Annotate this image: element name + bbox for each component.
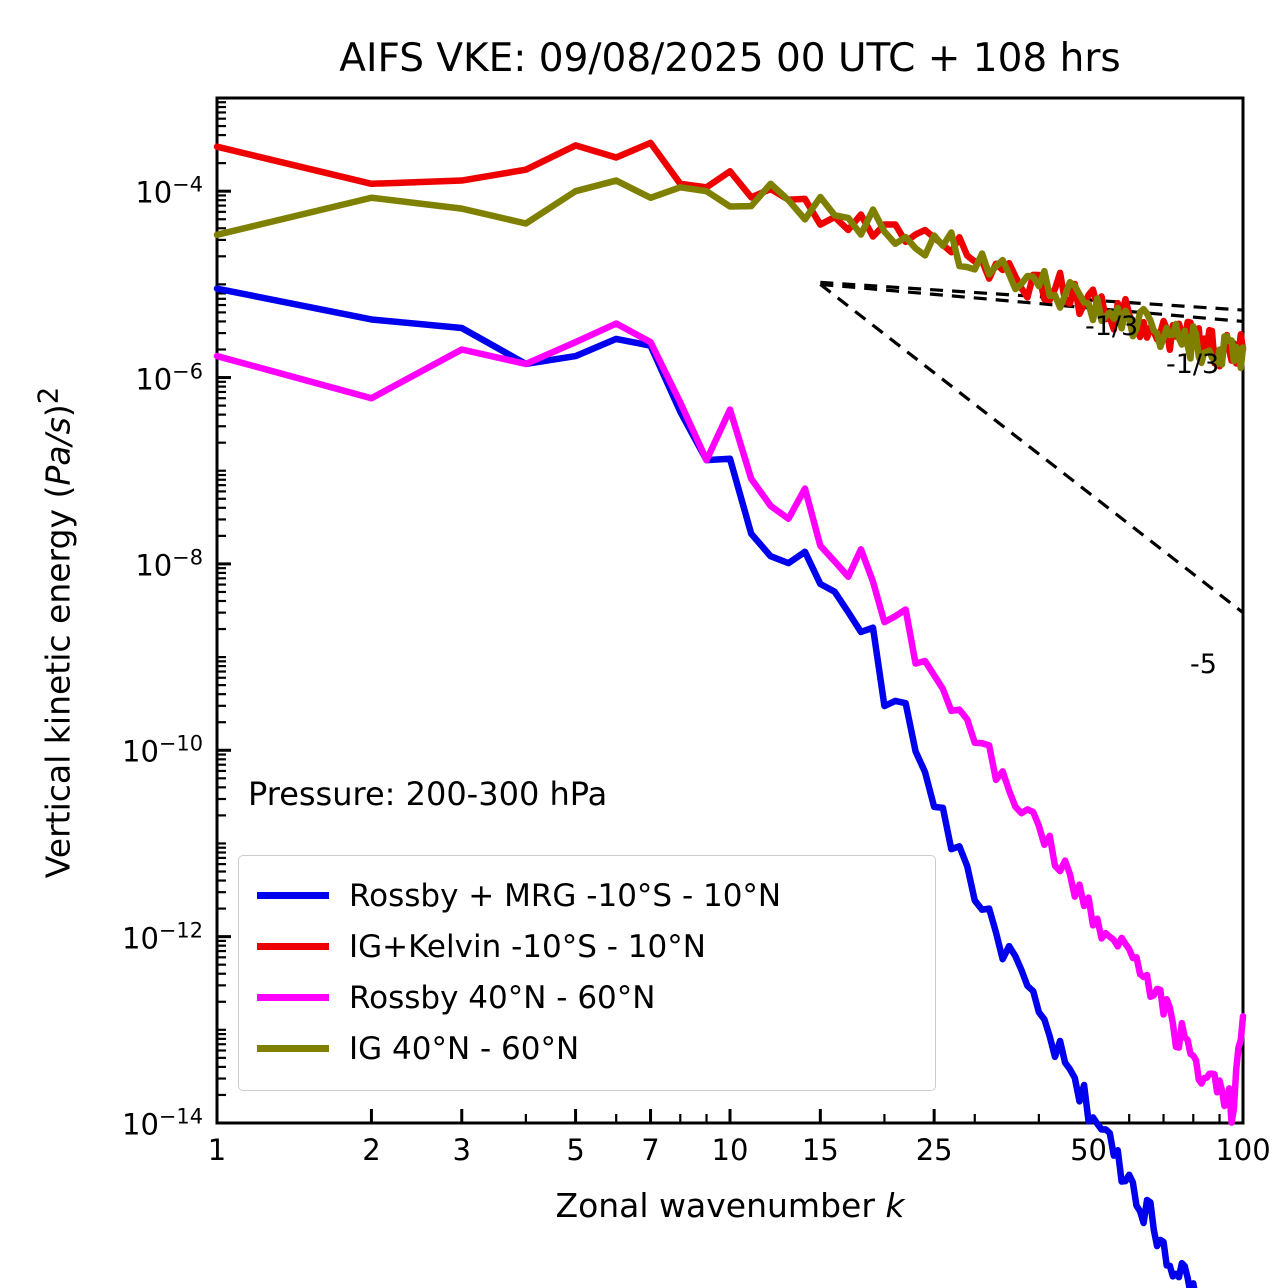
x-tick-label: 100 <box>1215 1133 1270 1167</box>
legend-color-swatch <box>257 994 329 1001</box>
x-tick-label: 5 <box>566 1133 584 1167</box>
legend-color-swatch <box>257 1045 329 1052</box>
legend-color-swatch <box>257 943 329 950</box>
slope-upper-third: -1/3 <box>1085 311 1138 342</box>
y-tick-label: 10−12 <box>122 918 203 955</box>
y-tick-label: 10−8 <box>135 546 203 583</box>
y-tick-label: 10−4 <box>135 173 203 210</box>
x-tick-label: 50 <box>1070 1133 1107 1167</box>
pressure-annotation: Pressure: 200-300 hPa <box>248 775 607 813</box>
x-tick-label: 1 <box>208 1133 226 1167</box>
slope-lower-third: -1/3 <box>1166 349 1219 380</box>
x-tick-label: 10 <box>712 1133 749 1167</box>
legend-color-swatch <box>257 892 329 899</box>
x-tick-label: 15 <box>802 1133 839 1167</box>
legend-item-label: IG+Kelvin -10°S - 10°N <box>349 929 706 965</box>
x-tick-label: 25 <box>916 1133 953 1167</box>
y-tick-label: 10−10 <box>122 732 203 769</box>
legend-item-label: IG 40°N - 60°N <box>349 1031 579 1067</box>
y-tick-label: 10−6 <box>135 359 203 396</box>
y-tick-label: 10−14 <box>122 1105 203 1142</box>
x-tick-label: 3 <box>453 1133 471 1167</box>
legend-item-1[interactable]: Rossby + MRG -10°S - 10°N <box>257 870 917 921</box>
slope-minus-five: -5 <box>1190 649 1217 680</box>
x-tick-label: 2 <box>362 1133 380 1167</box>
legend-item-2[interactable]: IG+Kelvin -10°S - 10°N <box>257 921 917 972</box>
x-tick-label: 7 <box>641 1133 659 1167</box>
legend-item-4[interactable]: IG 40°N - 60°N <box>257 1023 917 1074</box>
legend-item-label: Rossby + MRG -10°S - 10°N <box>349 878 781 914</box>
chart-figure: AIFS VKE: 09/08/2025 00 UTC + 108 hrs Ve… <box>0 0 1280 1288</box>
legend-item-3[interactable]: Rossby 40°N - 60°N <box>257 972 917 1023</box>
legend-item-label: Rossby 40°N - 60°N <box>349 980 655 1016</box>
chart-legend[interactable]: Rossby + MRG -10°S - 10°NIG+Kelvin -10°S… <box>238 855 936 1091</box>
